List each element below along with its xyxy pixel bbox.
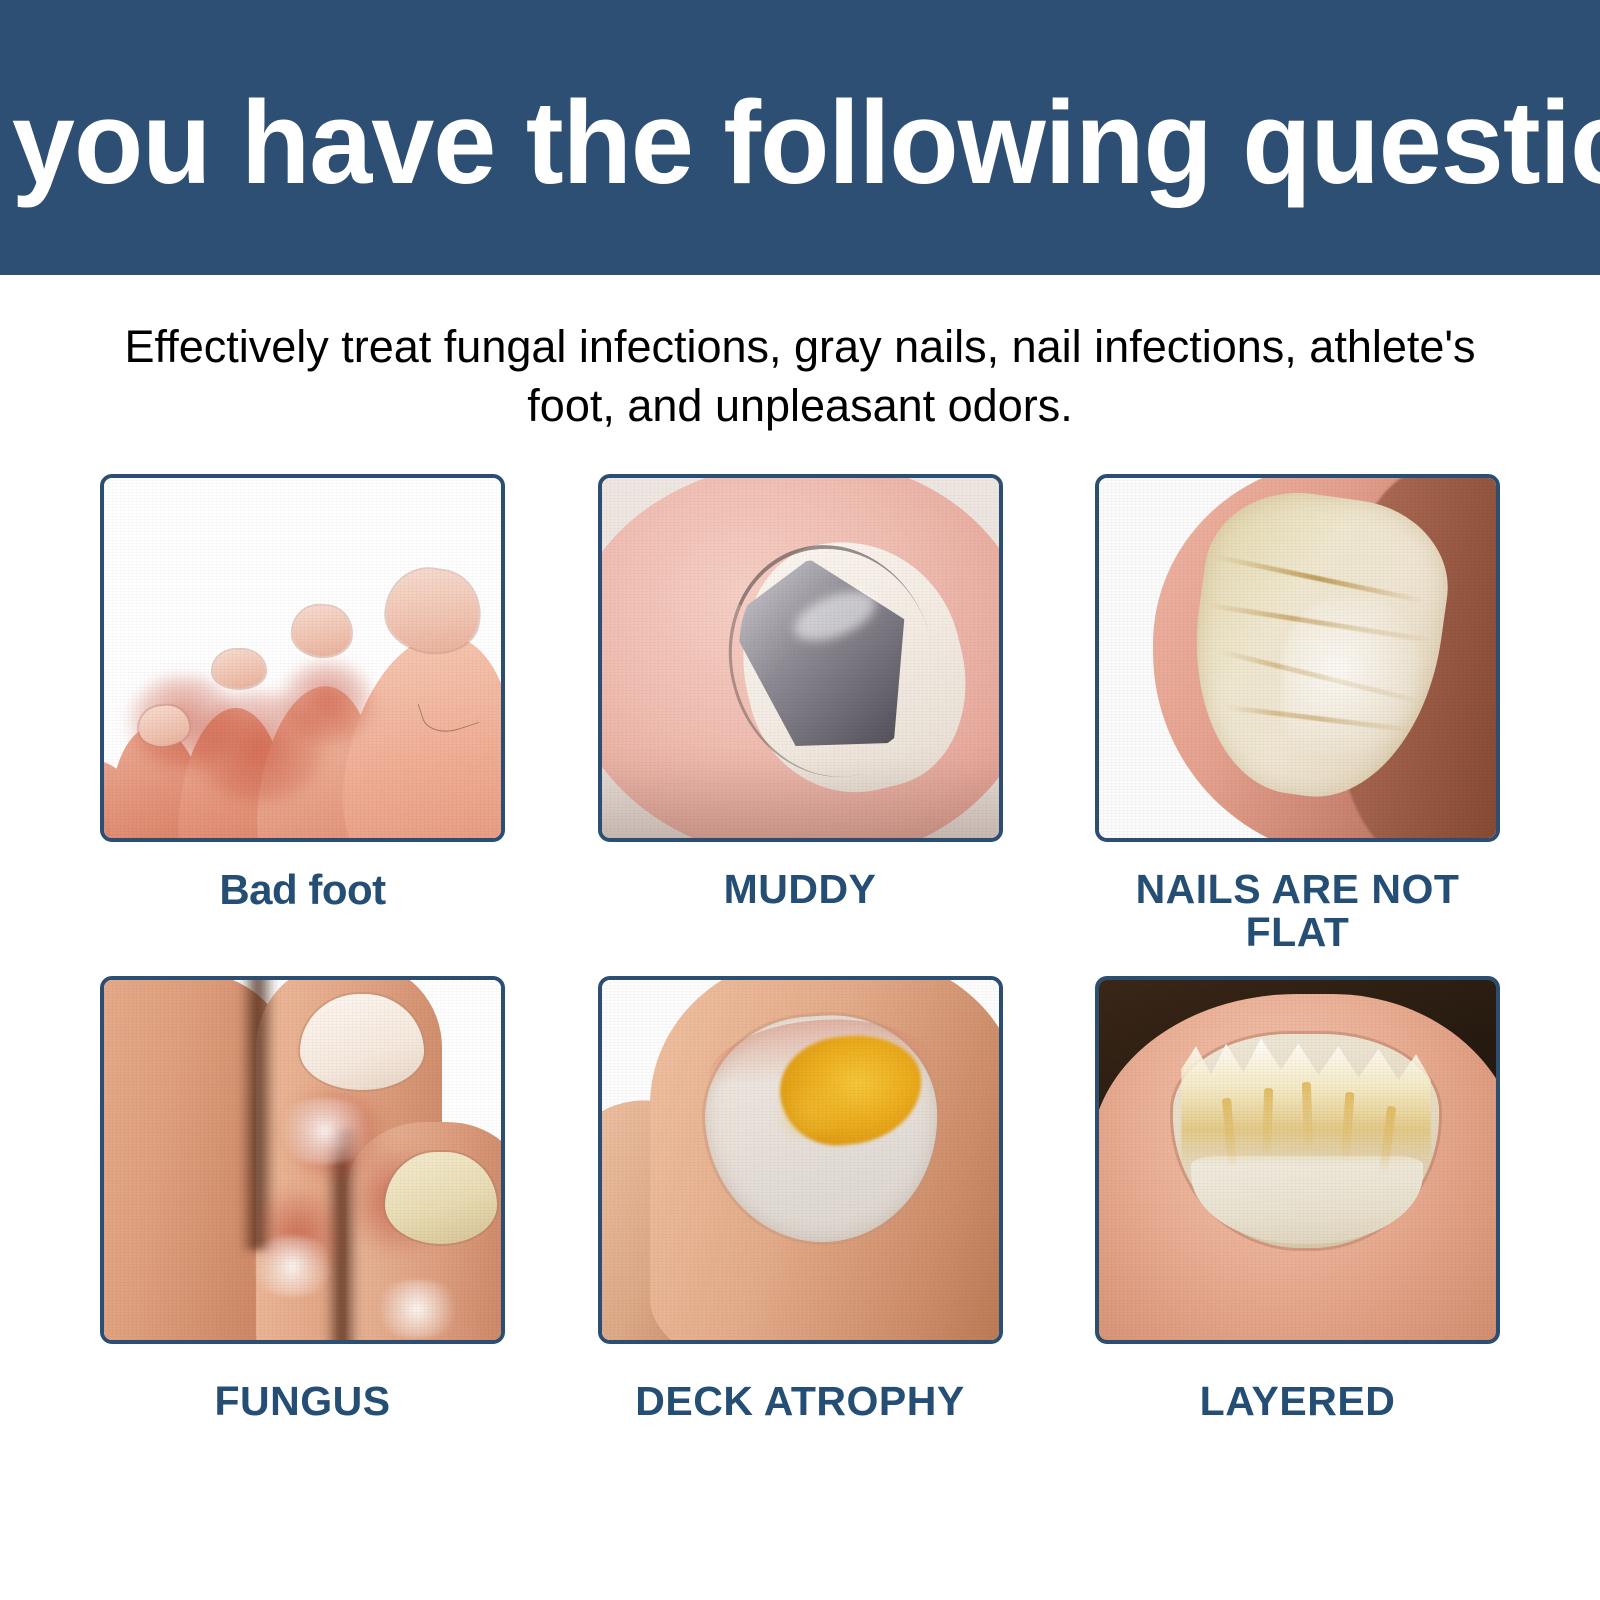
symptom-card-bad-foot[interactable]: Bad foot — [100, 474, 505, 954]
card-caption: DECK ATROPHY — [598, 1380, 1003, 1423]
toe-with-detached-gray-nail-photo — [602, 478, 999, 838]
symptom-card-muddy[interactable]: MUDDY — [598, 474, 1003, 954]
symptom-card-nails-are-not-flat[interactable]: NAILS ARE NOT FLAT — [1095, 474, 1500, 954]
photo-frame — [100, 976, 505, 1344]
card-caption: MUDDY — [598, 868, 1003, 911]
page-title: Do you have the following questions — [0, 84, 1600, 202]
card-caption: LAYERED — [1095, 1380, 1500, 1423]
subtitle-text: Effectively treat fungal infections, gra… — [78, 317, 1522, 436]
subtitle-section: Effectively treat fungal infections, gra… — [0, 275, 1600, 436]
symptom-card-fungus[interactable]: FUNGUS — [100, 976, 505, 1423]
card-caption: Bad foot — [100, 868, 505, 912]
crumbly-layered-nail-photo — [1099, 980, 1496, 1340]
foot-with-red-irritated-toes-photo — [104, 478, 501, 838]
photo-frame — [598, 976, 1003, 1344]
card-caption: FUNGUS — [100, 1380, 505, 1423]
photo-frame — [598, 474, 1003, 842]
symptom-card-grid: Bad foot MUDDY — [0, 474, 1600, 1423]
photo-frame — [100, 474, 505, 842]
nail-with-yellow-patch-photo — [602, 980, 999, 1340]
photo-frame — [1095, 474, 1500, 842]
thickened-ridged-yellow-nail-photo — [1099, 478, 1496, 838]
card-caption: NAILS ARE NOT FLAT — [1095, 868, 1500, 954]
header-banner: Do you have the following questions — [0, 0, 1600, 275]
photo-frame — [1095, 976, 1500, 1344]
symptom-card-layered[interactable]: LAYERED — [1095, 976, 1500, 1423]
toes-with-cracked-peeling-skin-photo — [104, 980, 501, 1340]
symptom-card-deck-atrophy[interactable]: DECK ATROPHY — [598, 976, 1003, 1423]
